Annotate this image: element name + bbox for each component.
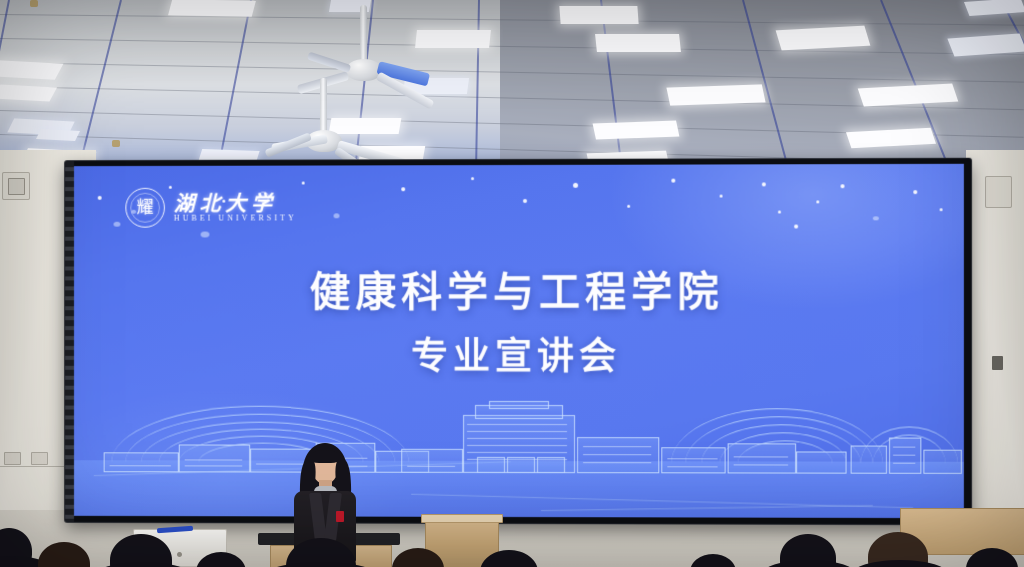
particle-dot xyxy=(762,182,766,186)
university-logo: 耀 湖北大学 HUBEI UNIVERSITY xyxy=(125,188,296,228)
university-seal-icon: 耀 xyxy=(125,188,165,228)
skyline-entrance-arch xyxy=(507,457,535,473)
particle-dot xyxy=(201,232,210,238)
particle-dot xyxy=(334,213,340,218)
particle-dot xyxy=(720,195,723,198)
led-display-screen: 耀 湖北大学 HUBEI UNIVERSITY 健康科学与工程学院 专业宣讲会 xyxy=(65,159,971,524)
particle-dot xyxy=(98,196,102,200)
ceiling-light-panel xyxy=(168,0,256,17)
skyline-building xyxy=(923,450,961,474)
particle-dot xyxy=(573,183,578,188)
power-outlet[interactable] xyxy=(4,452,21,465)
particle-dot xyxy=(302,182,305,185)
ceiling-light-panel xyxy=(666,84,765,105)
power-outlet[interactable] xyxy=(31,452,48,465)
sprinkler-head xyxy=(112,140,120,147)
presentation-slide: 耀 湖北大学 HUBEI UNIVERSITY 健康科学与工程学院 专业宣讲会 xyxy=(74,164,964,518)
particle-dot xyxy=(913,190,917,194)
ceiling-light-panel xyxy=(329,118,402,134)
skyline-building xyxy=(401,449,463,473)
particle-dot xyxy=(114,222,121,227)
particle-dot xyxy=(940,208,943,211)
sprinkler-head xyxy=(30,0,38,7)
particle-dot xyxy=(523,199,527,203)
ceiling-light-panel xyxy=(595,34,681,52)
particle-dot xyxy=(671,179,675,183)
particle-dot xyxy=(471,177,474,180)
skyline-entrance-arch xyxy=(477,457,505,473)
particle-dot xyxy=(401,187,405,191)
presenter-badge xyxy=(336,511,344,522)
skyline-building xyxy=(796,451,846,473)
ceiling-light-panel xyxy=(559,6,638,24)
lecture-hall-scene: 耀 湖北大学 HUBEI UNIVERSITY 健康科学与工程学院 专业宣讲会 xyxy=(0,0,1024,567)
wall-speaker xyxy=(2,172,30,200)
ceiling-light-panel xyxy=(593,121,680,140)
seal-glyph: 耀 xyxy=(137,199,154,216)
wall-switch[interactable] xyxy=(992,356,1003,370)
skyline-building xyxy=(728,443,796,473)
skyline-main-building-cap xyxy=(489,401,549,409)
particle-dot xyxy=(778,210,781,213)
ceiling-light-panel xyxy=(36,129,80,141)
ceiling-light-panel xyxy=(0,60,63,79)
campus-skyline-graphic xyxy=(74,367,964,518)
ceiling-light-panel xyxy=(0,84,57,101)
particle-dot xyxy=(816,200,819,203)
slide-title-main: 健康科学与工程学院 xyxy=(74,270,964,316)
university-name-cn: 湖北大学 xyxy=(174,192,297,213)
screen-bezel-left xyxy=(65,161,74,522)
particle-dot xyxy=(627,205,630,208)
skyline-entrance-arch xyxy=(537,457,565,473)
skyline-building xyxy=(104,452,179,472)
wall-speaker xyxy=(985,176,1012,208)
particle-dot xyxy=(873,216,879,220)
presenter-hair-fringe xyxy=(310,450,340,463)
particle-dot xyxy=(841,184,845,188)
particle-dot xyxy=(794,225,798,229)
skyline-building xyxy=(851,446,887,474)
university-name-en: HUBEI UNIVERSITY xyxy=(174,214,297,222)
slide-title-block: 健康科学与工程学院 专业宣讲会 xyxy=(74,270,964,379)
ceiling xyxy=(0,0,1024,176)
lectern-top xyxy=(421,514,503,523)
ceiling-light-panel xyxy=(415,30,491,48)
wall-seam xyxy=(0,466,64,467)
